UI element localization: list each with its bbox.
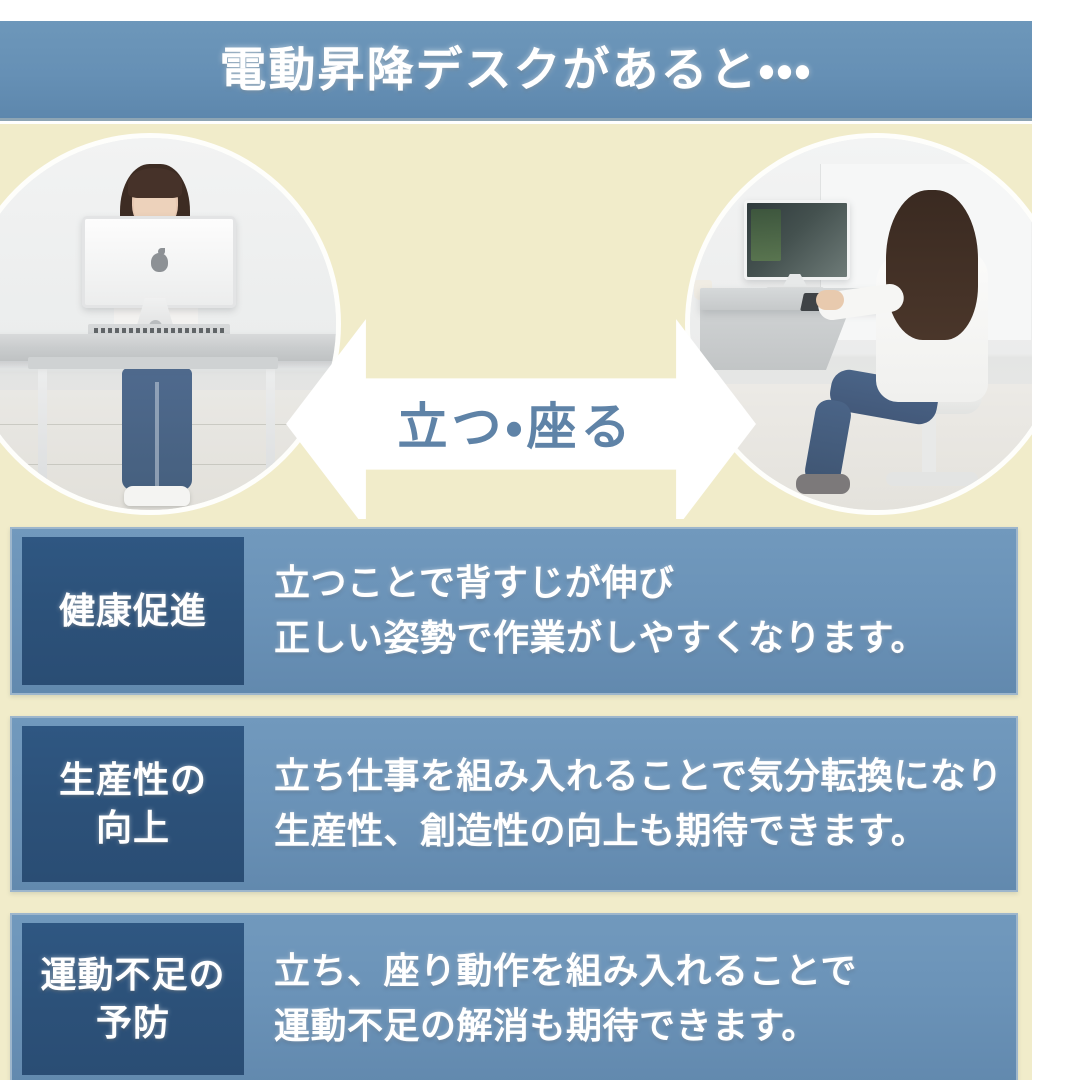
benefit-label-box: 運動不足の 予防 (22, 923, 244, 1075)
stool-base (886, 472, 978, 486)
person-hand (816, 290, 844, 310)
person-hair (886, 190, 978, 340)
benefit-row: 生産性の 向上 立ち仕事を組み入れることで気分転換になり 生産性、創造性の向上も… (10, 716, 1018, 892)
benefit-label-box: 生産性の 向上 (22, 726, 244, 882)
benefit-body: 立ち、座り動作を組み入れることで 運動不足の解消も期待できます。 (244, 915, 1016, 1080)
benefit-body-line: 生産性、創造性の向上も期待できます。 (274, 804, 1003, 859)
benefit-label: 生産性の 向上 (59, 756, 207, 851)
hero-photo-area: 立つ・座る を組み合わせることができる (0, 124, 1032, 519)
benefit-label: 運動不足の 予防 (40, 951, 225, 1046)
apple-logo-icon (151, 253, 168, 272)
benefit-body: 立つことで背すじが伸び 正しい姿勢で作業がしやすくなります。 (244, 529, 1016, 693)
seated-desk-photo (690, 138, 1032, 510)
benefit-row: 健康促進 立つことで背すじが伸び 正しい姿勢で作業がしやすくなります。 (10, 527, 1018, 695)
person-shoes (124, 486, 190, 506)
benefit-body: 立ち仕事を組み入れることで気分転換になり 生産性、創造性の向上も期待できます。 (244, 718, 1021, 890)
benefit-list: 健康促進 立つことで背すじが伸び 正しい姿勢で作業がしやすくなります。 生産性の… (10, 527, 1018, 1080)
header-banner: 電動昇降デスクがあると・・・ (0, 21, 1032, 121)
infographic-poster: 電動昇降デスクがあると・・・ (0, 0, 1070, 1080)
benefit-body-line: 立ち仕事を組み入れることで気分転換になり (274, 749, 1003, 804)
imac-monitor-icon (82, 216, 236, 308)
seated-scene (690, 138, 1032, 510)
standing-desk-photo (0, 138, 336, 510)
benefit-label-box: 健康促進 (22, 537, 244, 685)
person-hair-front (128, 168, 182, 198)
standing-scene (0, 138, 336, 510)
person-shoe (796, 474, 850, 494)
imac-monitor-icon (744, 200, 850, 280)
desk-apron (28, 357, 278, 369)
arrow-label: 立つ・座る (0, 402, 1032, 452)
benefit-body-line: 運動不足の解消も期待できます。 (274, 999, 998, 1054)
benefit-label: 健康促進 (59, 587, 207, 635)
benefit-body-line: 立つことで背すじが伸び (274, 556, 998, 611)
benefit-body-line: 立ち、座り動作を組み入れることで (274, 944, 998, 999)
page-title: 電動昇降デスクがあると・・・ (220, 46, 813, 93)
benefit-body-line: 正しい姿勢で作業がしやすくなります。 (274, 611, 998, 666)
benefit-row: 運動不足の 予防 立ち、座り動作を組み入れることで 運動不足の解消も期待できます… (10, 913, 1018, 1080)
